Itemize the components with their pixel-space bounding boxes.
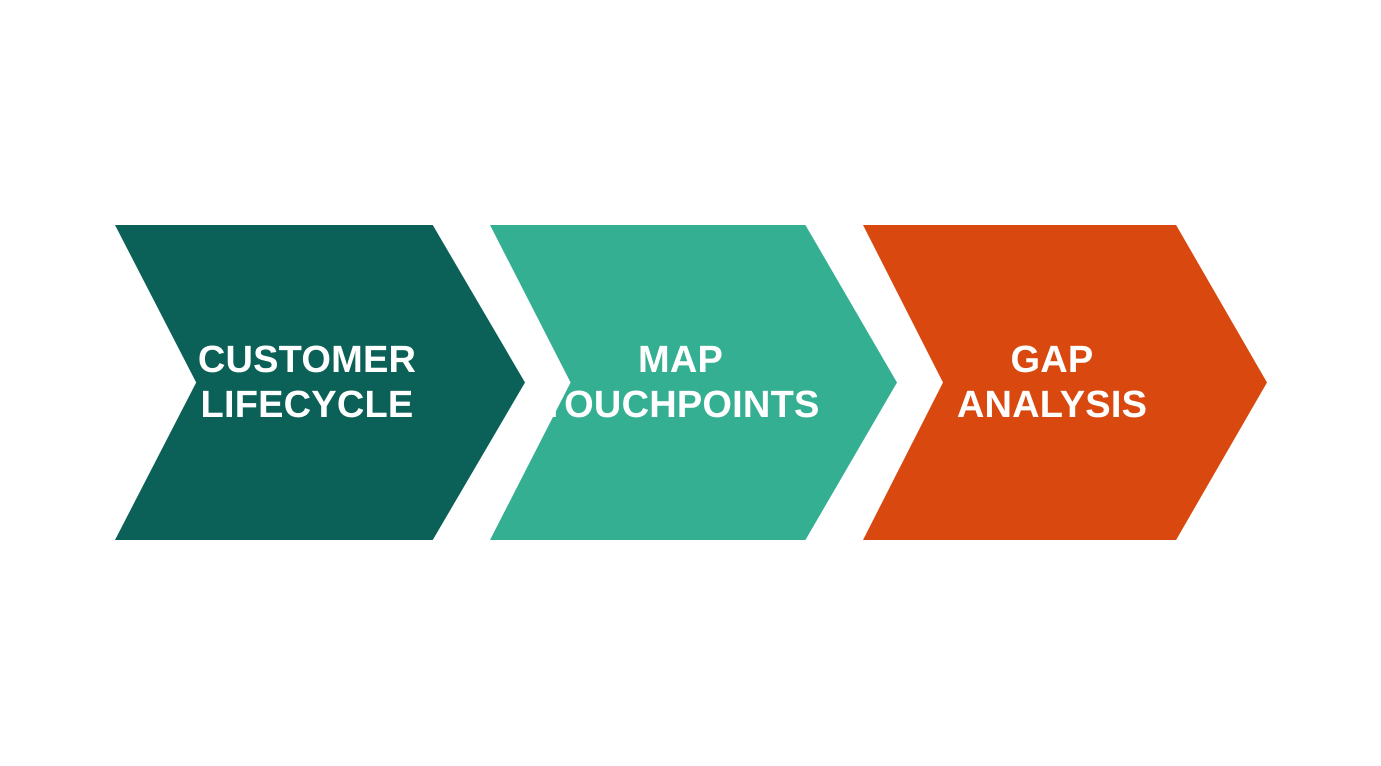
chevron-step-1[interactable]: CUSTOMER LIFECYCLE	[115, 225, 525, 540]
diagram-canvas: CUSTOMER LIFECYCLE MAP TOUCHPOINTS GAP A…	[0, 0, 1381, 766]
chevron-step-1-label: CUSTOMER LIFECYCLE	[198, 338, 416, 428]
chevron-step-2-label: MAP TOUCHPOINTS	[541, 338, 819, 428]
chevron-step-3-label: GAP ANALYSIS	[957, 338, 1147, 428]
chevron-step-3[interactable]: GAP ANALYSIS	[863, 225, 1267, 540]
chevron-step-2[interactable]: MAP TOUCHPOINTS	[490, 225, 897, 540]
